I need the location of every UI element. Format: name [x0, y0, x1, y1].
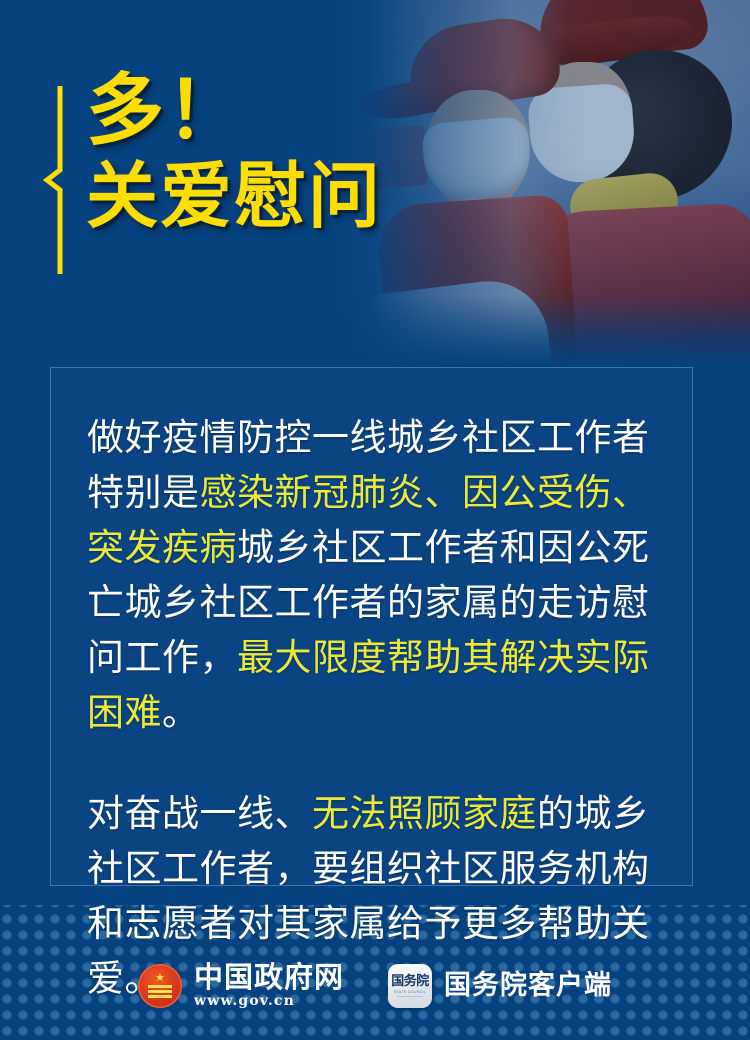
highlighted-text-run: 无法照顾家庭: [312, 792, 537, 835]
text-panel: 做好疫情防控一线城乡社区工作者特别是感染新冠肺炎、因公受伤、突发疾病城乡社区工作…: [50, 367, 693, 886]
emblem-star-glyph: ★: [155, 973, 165, 984]
text-run: 。: [162, 691, 200, 734]
text-panel-body: 做好疫情防控一线城乡社区工作者特别是感染新冠肺炎、因公受伤、突发疾病城乡社区工作…: [51, 368, 692, 1006]
emblem-bars-glyph: [148, 985, 172, 988]
state-council-app-icon: 国务院 STATE COUNCIL: [388, 964, 432, 1008]
gov-brand-name: 中国政府网: [194, 963, 344, 992]
title-block: 多！ 关爱慰问: [40, 72, 460, 233]
footer-brand-bar: ★ 中国政府网 www.gov.cn 国务院 STATE COUNCIL 国务院…: [0, 963, 750, 1008]
gov-brand-url: www.gov.cn: [194, 994, 344, 1008]
national-emblem-icon: ★: [138, 964, 182, 1008]
title-line-1: 多！: [86, 72, 460, 152]
title-line-2: 关爱慰问: [86, 160, 460, 233]
state-council-label: 国务院客户端: [444, 972, 612, 999]
title-lines: 多！ 关爱慰问: [86, 72, 460, 233]
paragraph-1: 做好疫情防控一线城乡社区工作者特别是感染新冠肺炎、因公受伤、突发疾病城乡社区工作…: [87, 410, 660, 740]
poster-root: 多！ 关爱慰问 做好疫情防控一线城乡社区工作者特别是感染新冠肺炎、因公受伤、突发…: [0, 0, 750, 1040]
photo-bottom-fade-overlay: [330, 296, 750, 366]
state-council-brand[interactable]: 国务院 STATE COUNCIL 国务院客户端: [388, 964, 612, 1008]
gov-brand-text: 中国政府网 www.gov.cn: [194, 963, 344, 1008]
app-icon-en-label: STATE COUNCIL: [394, 990, 426, 994]
text-run: 对奋战一线、: [87, 792, 312, 835]
gov-brand[interactable]: ★ 中国政府网 www.gov.cn: [138, 963, 344, 1008]
app-icon-divider: [397, 996, 423, 997]
bracket-accent-icon: [43, 86, 69, 274]
app-icon-cn-label: 国务院: [391, 975, 429, 988]
